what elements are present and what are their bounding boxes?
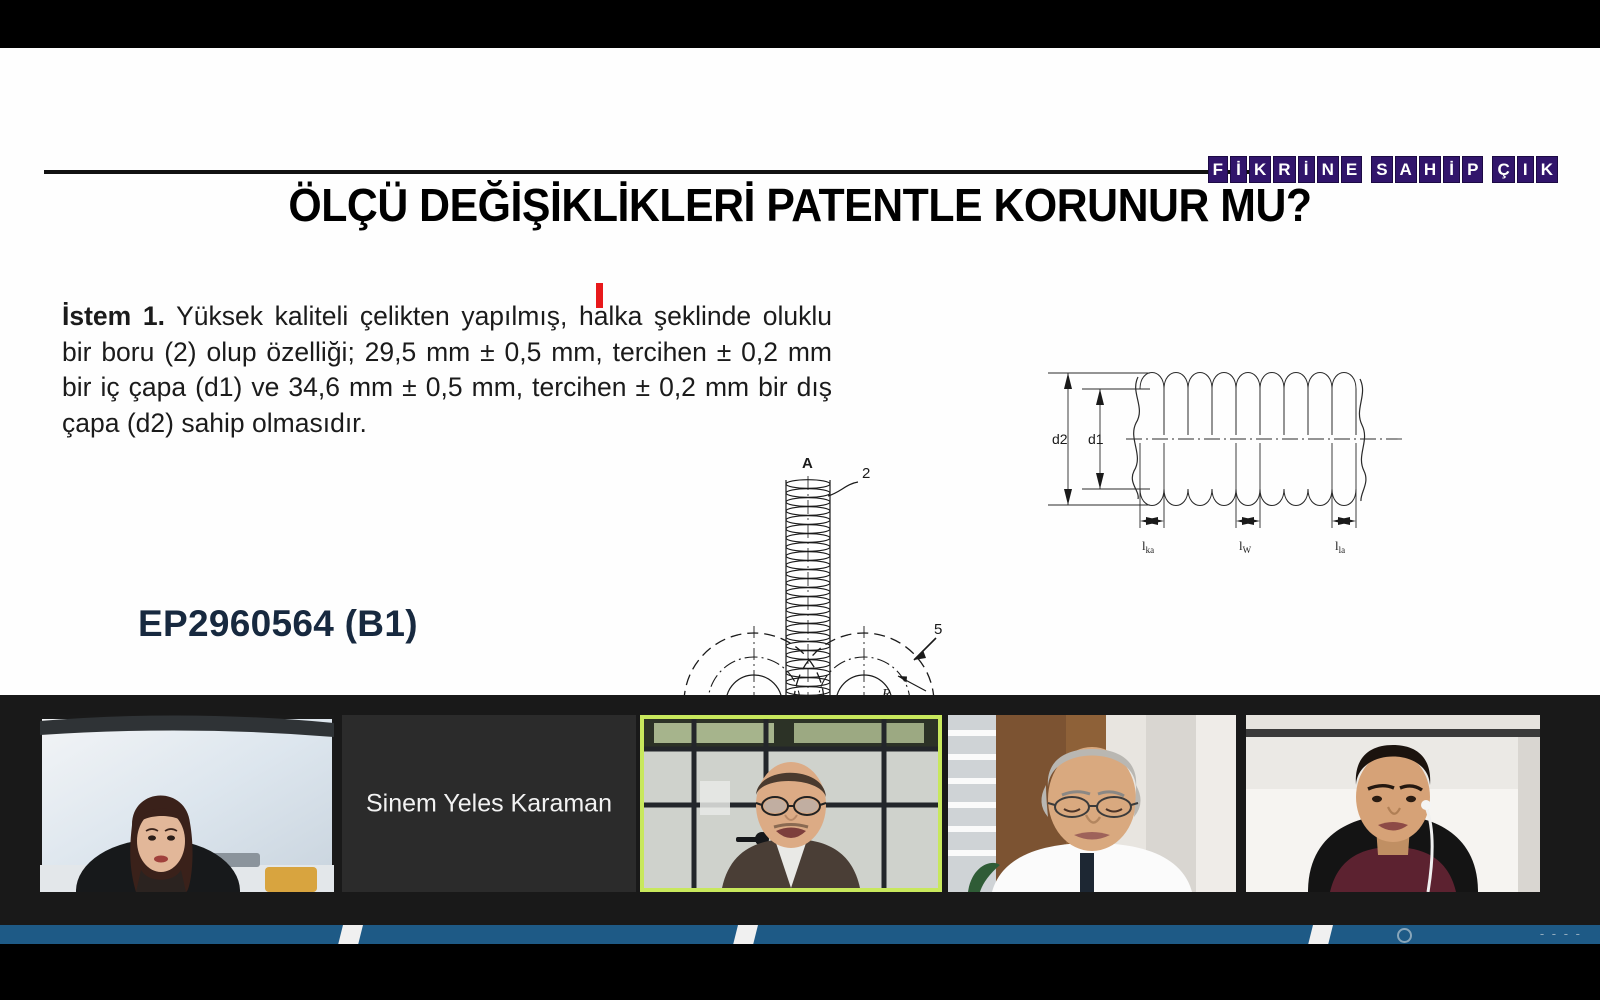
len-label-lka: lka: [1142, 538, 1154, 555]
claim-text: İstem 1. Yüksek kaliteli çelikten yapılm…: [62, 299, 832, 441]
patent-number: EP2960564 (B1): [138, 603, 418, 645]
brand-space: [1364, 156, 1369, 183]
brand-letter: P: [1462, 156, 1483, 183]
footer-circle-icon: [1397, 928, 1412, 943]
letterbox-bottom: [0, 944, 1600, 1000]
shared-slide: ÖLÇÜ DEĞİŞİKLİKLERİ PATENTLE KORUNUR MU?…: [0, 48, 1600, 695]
figure-ref-5: 5: [934, 621, 942, 638]
video-tile-sinem-yeles-karaman[interactable]: Sinem Yeles Karaman: [342, 715, 636, 892]
brand-letter: A: [1395, 156, 1417, 183]
figure-ref-r: R: [881, 687, 891, 695]
letterbox-top: [0, 0, 1600, 48]
dim-label-d2: d2: [1052, 431, 1068, 447]
video-feed: [1246, 715, 1540, 892]
video-tile-participant-4[interactable]: [948, 715, 1236, 892]
screen-root: ÖLÇÜ DEĞİŞİKLİKLERİ PATENTLE KORUNUR MU?…: [0, 0, 1600, 1000]
figure-ref-2: 2: [862, 465, 870, 482]
brand-letter: R: [1273, 156, 1295, 183]
brand-letter: N: [1317, 156, 1339, 183]
video-filmstrip: Sinem Yeles Karaman: [0, 695, 1600, 944]
figure-label-a: A: [802, 455, 813, 472]
len-label-lw: lW: [1239, 538, 1252, 555]
brand-letter: İ: [1298, 156, 1315, 183]
video-feed: [644, 719, 938, 888]
brand-space: [1485, 156, 1490, 183]
video-tile-participant-5[interactable]: [1246, 715, 1540, 892]
brand-letter: I: [1517, 156, 1534, 183]
claim-body: Yüksek kaliteli çelikten yapılmış, halka…: [62, 301, 832, 438]
brand-letter: H: [1419, 156, 1441, 183]
brand-word-fikrine: F İ K R İ N E: [1208, 156, 1363, 183]
brand-letter: F: [1208, 156, 1228, 183]
page-title: ÖLÇÜ DEĞİŞİKLİKLERİ PATENTLE KORUNUR MU?: [56, 178, 1544, 232]
video-feed: [948, 715, 1236, 892]
len-label-lla: lla: [1335, 538, 1345, 555]
figure-coil-spring: A 2 5 R: [636, 448, 986, 695]
brand-letter: Ç: [1492, 156, 1514, 183]
brand-letter: E: [1341, 156, 1362, 183]
footer-text: - - - -: [1540, 926, 1582, 941]
video-tile-participant-1[interactable]: [40, 715, 334, 892]
brand-letter: K: [1249, 156, 1271, 183]
video-feed: [40, 715, 334, 892]
claim-label: İstem 1.: [62, 301, 165, 331]
video-tile-active-speaker[interactable]: [640, 715, 942, 892]
title-rule: [44, 170, 1260, 174]
dim-label-d1: d1: [1088, 431, 1104, 447]
brand-word-cik: Ç I K: [1492, 156, 1558, 183]
brand-letter: İ: [1230, 156, 1247, 183]
brand-word-sahip: S A H İ P: [1371, 156, 1483, 183]
brand-letter: K: [1536, 156, 1558, 183]
brand-logo: F İ K R İ N E S A H İ P Ç I K: [1208, 156, 1558, 183]
figure-corrugated-pipe: d2 d1 lka lW lla: [1030, 343, 1405, 558]
tile-name-label: Sinem Yeles Karaman: [342, 789, 636, 818]
brand-letter: İ: [1443, 156, 1460, 183]
brand-letter: S: [1371, 156, 1392, 183]
